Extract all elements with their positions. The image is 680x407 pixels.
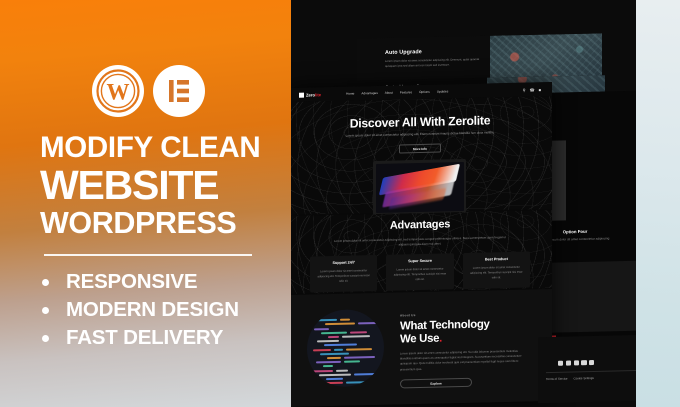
- twitter-icon[interactable]: [566, 360, 571, 365]
- mockup-footer: Terms of Service Cookie Settings: [538, 335, 648, 403]
- headline-line-1: MODIFY CLEAN: [40, 133, 270, 163]
- advantage-card-title: Support 24/7: [315, 260, 372, 265]
- brand-logo[interactable]: Zerolite: [299, 92, 321, 98]
- advantage-card[interactable]: Super Secure Lorem ipsum dolor sit amet …: [386, 253, 453, 291]
- svg-text:W: W: [107, 80, 130, 105]
- main-website-mockup: Zerolite Home Advantages About Features …: [288, 82, 552, 407]
- nav-item-options[interactable]: Options: [419, 90, 430, 94]
- nav-item-features[interactable]: Features: [400, 90, 412, 94]
- promo-headline: MODIFY CLEAN WEBSITE WORDPRESS: [40, 133, 270, 239]
- technology-heading-line2: We Use: [400, 332, 439, 345]
- mail-icon[interactable]: ■: [539, 87, 541, 92]
- laptop-lid: [373, 159, 466, 215]
- technology-heading-dot: .: [439, 332, 442, 344]
- promo-divider: [44, 254, 252, 256]
- youtube-icon[interactable]: [589, 360, 594, 365]
- nav-item-updates[interactable]: Updates: [437, 89, 449, 93]
- brand-name: Zerolite: [306, 92, 321, 97]
- elementor-logo: [153, 65, 205, 117]
- technology-heading: What Technology We Use.: [400, 318, 530, 346]
- advantage-card-body: Lorem ipsum dolor sit amet consectetur a…: [315, 268, 372, 285]
- nav-item-advantages[interactable]: Advantages: [361, 91, 377, 95]
- list-item: RESPONSIVE: [42, 268, 282, 296]
- advantages-heading: Advantages: [288, 216, 552, 234]
- hero-section: Discover All With Zerolite Lorem ipsum d…: [288, 96, 552, 215]
- promo-feature-list: RESPONSIVE MODERN DESIGN FAST DELIVERY: [42, 268, 282, 352]
- nav-menu[interactable]: Home Advantages About Features Options U…: [346, 89, 448, 95]
- advantage-card-title: Super Secure: [391, 258, 448, 263]
- phone-icon[interactable]: ☎: [530, 87, 535, 92]
- advantage-card[interactable]: Support 24/7 Lorem ipsum dolor sit amet …: [310, 255, 377, 293]
- more-info-button-label: More Info: [413, 146, 427, 150]
- promo-banner: Auto Upgrade Lorem ipsum dolor sit amet …: [0, 0, 680, 407]
- search-icon[interactable]: ⚲: [523, 87, 526, 92]
- advantage-card-body: Lorem ipsum dolor sit amet consectetur a…: [391, 266, 448, 283]
- advantages-paragraph: Lorem ipsum dolor sit amet consectetur a…: [332, 235, 508, 249]
- footer-divider: [546, 370, 640, 373]
- feature-label-modern-design: MODERN DESIGN: [66, 300, 239, 321]
- wordpress-logo: W: [92, 65, 144, 117]
- list-item: MODERN DESIGN: [42, 296, 282, 324]
- technology-eyebrow: About Us: [400, 311, 530, 318]
- background-right-edge: [636, 0, 680, 407]
- bullet-dot-icon: [42, 335, 49, 342]
- headline-line-2: WEBSITE: [40, 165, 270, 207]
- advantage-card[interactable]: Best Product Lorem ipsum dolor sit amet …: [463, 252, 530, 290]
- laptop-screen: [376, 162, 464, 213]
- advantages-section: Advantages Lorem ipsum dolor sit amet co…: [288, 210, 552, 294]
- more-info-button[interactable]: More Info: [399, 144, 441, 154]
- nav-item-about[interactable]: About: [385, 91, 393, 95]
- hero-paragraph: Lorem ipsum dolor sit amet consectetur a…: [320, 130, 520, 140]
- nav-icon-group[interactable]: ⚲ ☎ ■: [523, 87, 541, 92]
- list-item: FAST DELIVERY: [42, 324, 282, 352]
- social-icon-group[interactable]: [558, 360, 594, 366]
- technology-heading-line1: What Technology: [400, 318, 490, 332]
- auto-upgrade-body: Lorem ipsum dolor sit amet consectetur a…: [385, 57, 485, 69]
- advantages-card-list: Support 24/7 Lorem ipsum dolor sit amet …: [310, 252, 530, 293]
- technology-section: About Us What Technology We Use. Lorem i…: [288, 289, 552, 407]
- instagram-icon[interactable]: [574, 360, 579, 365]
- feature-label-fast-delivery: FAST DELIVERY: [66, 328, 223, 349]
- footer-link-terms[interactable]: Terms of Service: [546, 377, 568, 381]
- logo-mark-icon: [299, 92, 304, 97]
- linkedin-icon[interactable]: [581, 360, 586, 365]
- headline-line-3: WORDPRESS: [40, 208, 270, 239]
- facebook-icon[interactable]: [558, 361, 563, 366]
- technology-paragraph: Lorem ipsum dolor sit amet consectetur a…: [400, 348, 525, 373]
- footer-link-cookies[interactable]: Cookie Settings: [574, 376, 594, 380]
- advantage-card-title: Best Product: [468, 257, 525, 262]
- feature-label-responsive: RESPONSIVE: [66, 272, 197, 293]
- bullet-dot-icon: [42, 307, 49, 314]
- auto-upgrade-text-block: Auto Upgrade Lorem ipsum dolor sit amet …: [385, 48, 485, 69]
- logo-group: W: [92, 65, 205, 117]
- technology-text-block: About Us What Technology We Use. Lorem i…: [400, 311, 530, 389]
- footer-links[interactable]: Terms of Service Cookie Settings: [546, 375, 640, 381]
- advantage-card-body: Lorem ipsum dolor sit amet consectetur a…: [468, 264, 525, 281]
- nav-item-home[interactable]: Home: [346, 91, 354, 95]
- auto-upgrade-title: Auto Upgrade: [385, 48, 485, 56]
- code-circle-image: [307, 309, 384, 388]
- promo-panel: W MODIFY CLEAN WEBSITE WORDPRESS: [0, 0, 291, 407]
- bullet-dot-icon: [42, 279, 49, 286]
- explore-button[interactable]: Explore: [400, 378, 472, 389]
- explore-button-label: Explore: [430, 381, 441, 385]
